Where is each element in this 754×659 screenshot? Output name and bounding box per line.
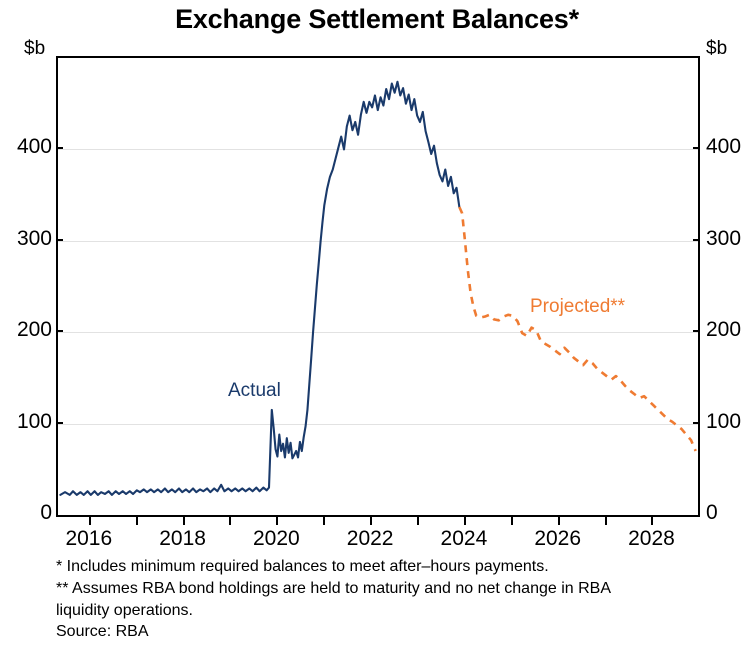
footnote-1: * Includes minimum required balances to …: [56, 556, 716, 578]
x-tick-label: 2028: [628, 527, 675, 551]
y-axis-unit-left: $b: [24, 38, 45, 60]
x-tick-mark: [229, 517, 231, 525]
series-label-projected: Projected**: [530, 296, 625, 318]
x-tick-label: 2024: [441, 527, 488, 551]
plot-frame: [56, 56, 700, 517]
series-line-actual: [60, 82, 459, 495]
y-tick-label-right: 400: [706, 136, 741, 157]
y-tick-label-right: 300: [706, 228, 741, 249]
footnote-2: ** Assumes RBA bond holdings are held to…: [56, 578, 716, 600]
x-tick-mark: [276, 517, 278, 525]
y-axis-unit-right: $b: [706, 38, 727, 60]
x-tick-mark: [323, 517, 325, 525]
y-tick-label-left: 100: [17, 411, 52, 432]
x-tick-mark: [558, 517, 560, 525]
x-tick-mark: [136, 517, 138, 525]
source-note: Source: RBA: [56, 621, 716, 643]
y-tick-label-right: 200: [706, 319, 741, 340]
page-title: Exchange Settlement Balances*: [0, 4, 754, 35]
x-tick-label: 2018: [159, 527, 206, 551]
x-tick-mark: [417, 517, 419, 525]
y-tick-mark: [56, 239, 63, 241]
series-line-projected: [459, 207, 695, 451]
y-tick-label-right: 0: [706, 502, 718, 523]
x-tick-mark: [605, 517, 607, 525]
footnotes: * Includes minimum required balances to …: [56, 556, 716, 643]
y-tick-mark: [56, 147, 63, 149]
plot-area: [58, 58, 698, 515]
y-tick-mark: [56, 422, 63, 424]
y-tick-label-left: 300: [17, 228, 52, 249]
series-layer: [58, 58, 698, 515]
footnote-2-cont: liquidity operations.: [56, 600, 716, 622]
x-tick-mark: [89, 517, 91, 525]
y-tick-label-left: 200: [17, 319, 52, 340]
y-tick-label-left: 0: [40, 502, 52, 523]
x-tick-mark: [370, 517, 372, 525]
y-tick-mark: [693, 147, 700, 149]
y-tick-label-left: 400: [17, 136, 52, 157]
series-label-actual: Actual: [228, 380, 281, 402]
x-tick-mark: [464, 517, 466, 525]
x-tick-label: 2016: [65, 527, 112, 551]
y-tick-mark: [693, 239, 700, 241]
y-tick-mark: [693, 422, 700, 424]
x-tick-mark: [183, 517, 185, 525]
chart-page: Exchange Settlement Balances* $b $b 0010…: [0, 0, 754, 659]
y-tick-mark: [56, 330, 63, 332]
x-tick-label: 2022: [347, 527, 394, 551]
y-tick-mark: [693, 330, 700, 332]
x-tick-mark: [651, 517, 653, 525]
x-tick-mark: [511, 517, 513, 525]
x-tick-label: 2026: [534, 527, 581, 551]
x-tick-label: 2020: [253, 527, 300, 551]
y-tick-label-right: 100: [706, 411, 741, 432]
